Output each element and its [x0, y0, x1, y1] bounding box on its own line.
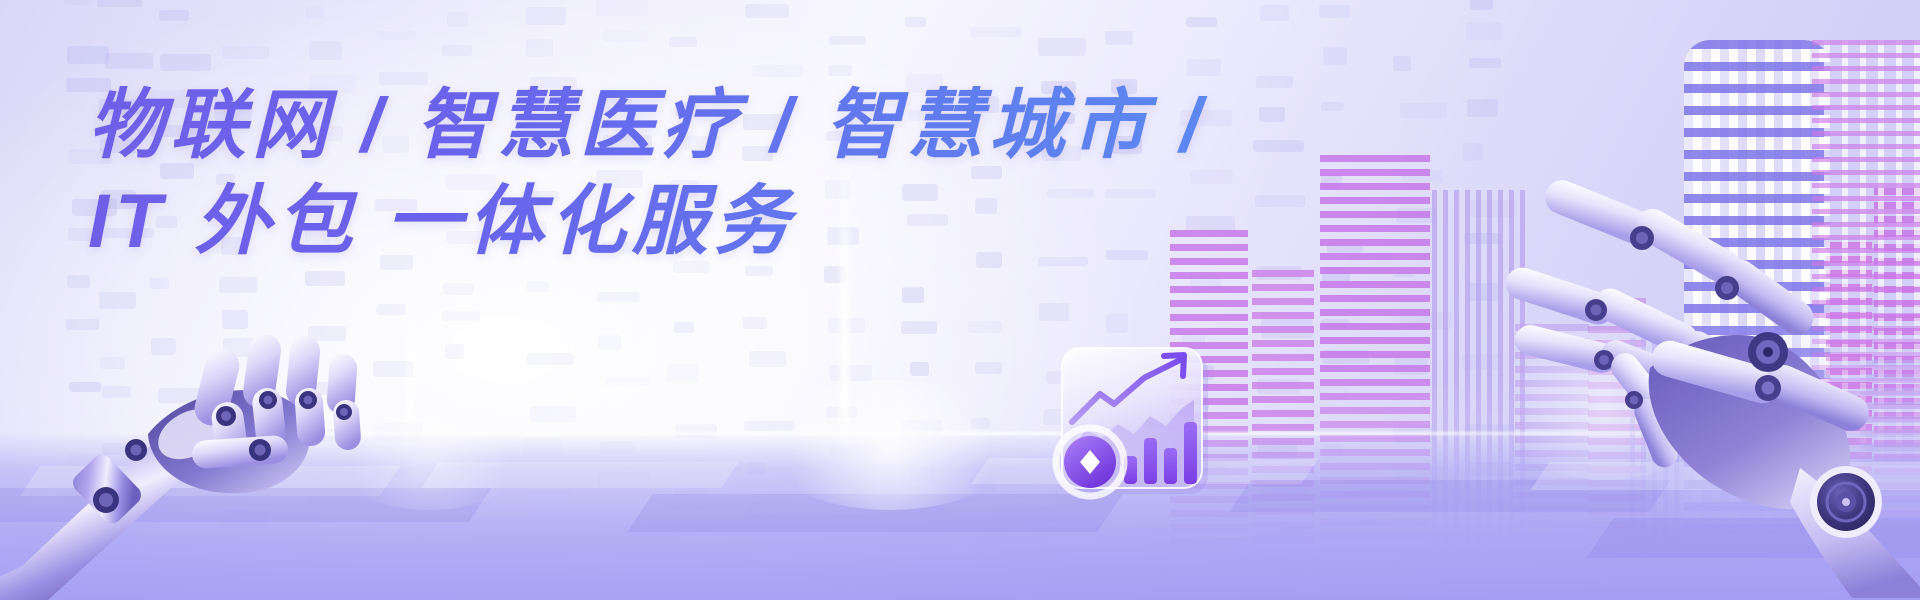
background-cell [829, 36, 866, 45]
background-cell [305, 7, 324, 19]
background-cell [305, 271, 345, 286]
background-cell [447, 12, 468, 27]
background-cell [745, 4, 789, 18]
floor-glow [760, 380, 1020, 510]
background-cell [442, 45, 472, 56]
chart-bar [1184, 422, 1197, 484]
background-cell [222, 310, 248, 329]
background-cell [99, 292, 136, 309]
background-cell [67, 275, 90, 288]
background-cell [598, 335, 621, 350]
background-cell [596, 0, 648, 16]
robotic-hand-right-icon [1500, 168, 1920, 600]
headline-line-2: IT 外包 一体化服务 [88, 174, 1268, 270]
background-cell [901, 321, 937, 334]
background-cell [66, 319, 99, 330]
background-cell [975, 362, 1002, 374]
background-cell [749, 351, 786, 367]
background-cell [667, 364, 699, 382]
chart-bar [1144, 438, 1157, 484]
background-cell [377, 31, 416, 40]
background-cell [597, 292, 640, 302]
background-cell [222, 46, 269, 59]
background-cell [1105, 31, 1133, 45]
finger-pinky [326, 353, 362, 451]
background-cell [605, 377, 649, 386]
robotic-hand-left-icon [0, 330, 378, 600]
background-cell [526, 7, 566, 25]
background-cell [150, 278, 169, 289]
background-cell [442, 311, 480, 321]
background-cell [159, 10, 189, 21]
background-cell [526, 39, 553, 57]
it-services-hero-banner: 物联网 / 智慧医疗 / 智慧城市 / IT 外包 一体化服务 [0, 0, 1920, 600]
background-cell [527, 281, 549, 292]
background-cell [64, 0, 89, 5]
background-cell [97, 0, 142, 7]
headline-line-1: 物联网 / 智慧医疗 / 智慧城市 / [88, 78, 1268, 174]
background-cell [830, 365, 872, 381]
background-cell [902, 287, 924, 303]
background-cell [828, 65, 852, 76]
background-cell [376, 304, 406, 315]
background-cell [445, 344, 464, 359]
background-cell [443, 283, 474, 295]
background-cell [905, 17, 926, 27]
background-cell [1106, 314, 1128, 333]
background-cell [743, 317, 767, 329]
background-cell [527, 353, 574, 365]
background-cell [309, 41, 342, 60]
background-cell [970, 27, 1021, 37]
background-cell [105, 53, 153, 69]
background-cell [1038, 38, 1086, 56]
background-cell [674, 322, 694, 333]
background-cell [67, 46, 109, 64]
background-cell [1039, 303, 1069, 321]
background-cell [752, 65, 803, 77]
background-cell [160, 54, 211, 71]
background-cell [910, 362, 929, 376]
background-cell [603, 30, 648, 42]
chart-bar [1164, 448, 1177, 484]
background-cell [968, 321, 1002, 333]
background-cell [530, 406, 576, 422]
background-cell [669, 37, 697, 47]
headline: 物联网 / 智慧医疗 / 智慧城市 / IT 外包 一体化服务 [88, 78, 1268, 270]
background-cell [219, 277, 257, 293]
analytics-chart-card-icon [1052, 338, 1220, 504]
